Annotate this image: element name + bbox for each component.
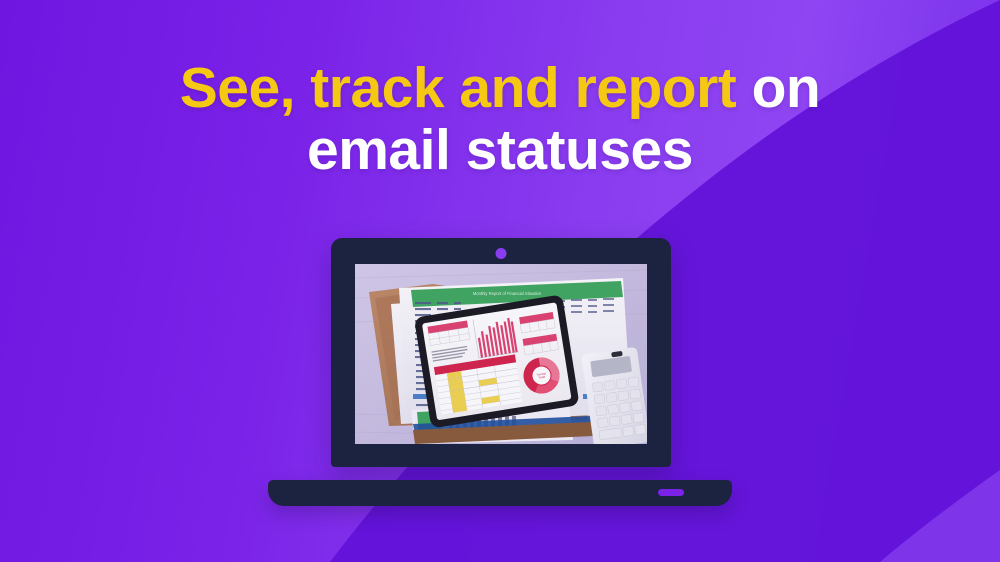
laptop-illustration: Monthly Report of Financial Situation [268,238,732,506]
headline-accent-text: See, track and report [180,56,737,120]
headline-line-2: email statuses [0,120,1000,182]
webcam-icon [496,248,507,259]
laptop-screen: Monthly Report of Financial Situation [355,264,647,444]
slide-canvas: See, track and report on email statuses [0,0,1000,562]
headline-line-1: See, track and report on [0,58,1000,120]
laptop-base [268,480,732,506]
headline-plain-text: on [736,56,820,120]
page-title: See, track and report on email statuses [0,58,1000,181]
laptop-lid: Monthly Report of Financial Situation [331,238,671,467]
screen-photo: Monthly Report of Financial Situation [355,264,647,444]
trackpad-notch-icon [658,489,684,496]
